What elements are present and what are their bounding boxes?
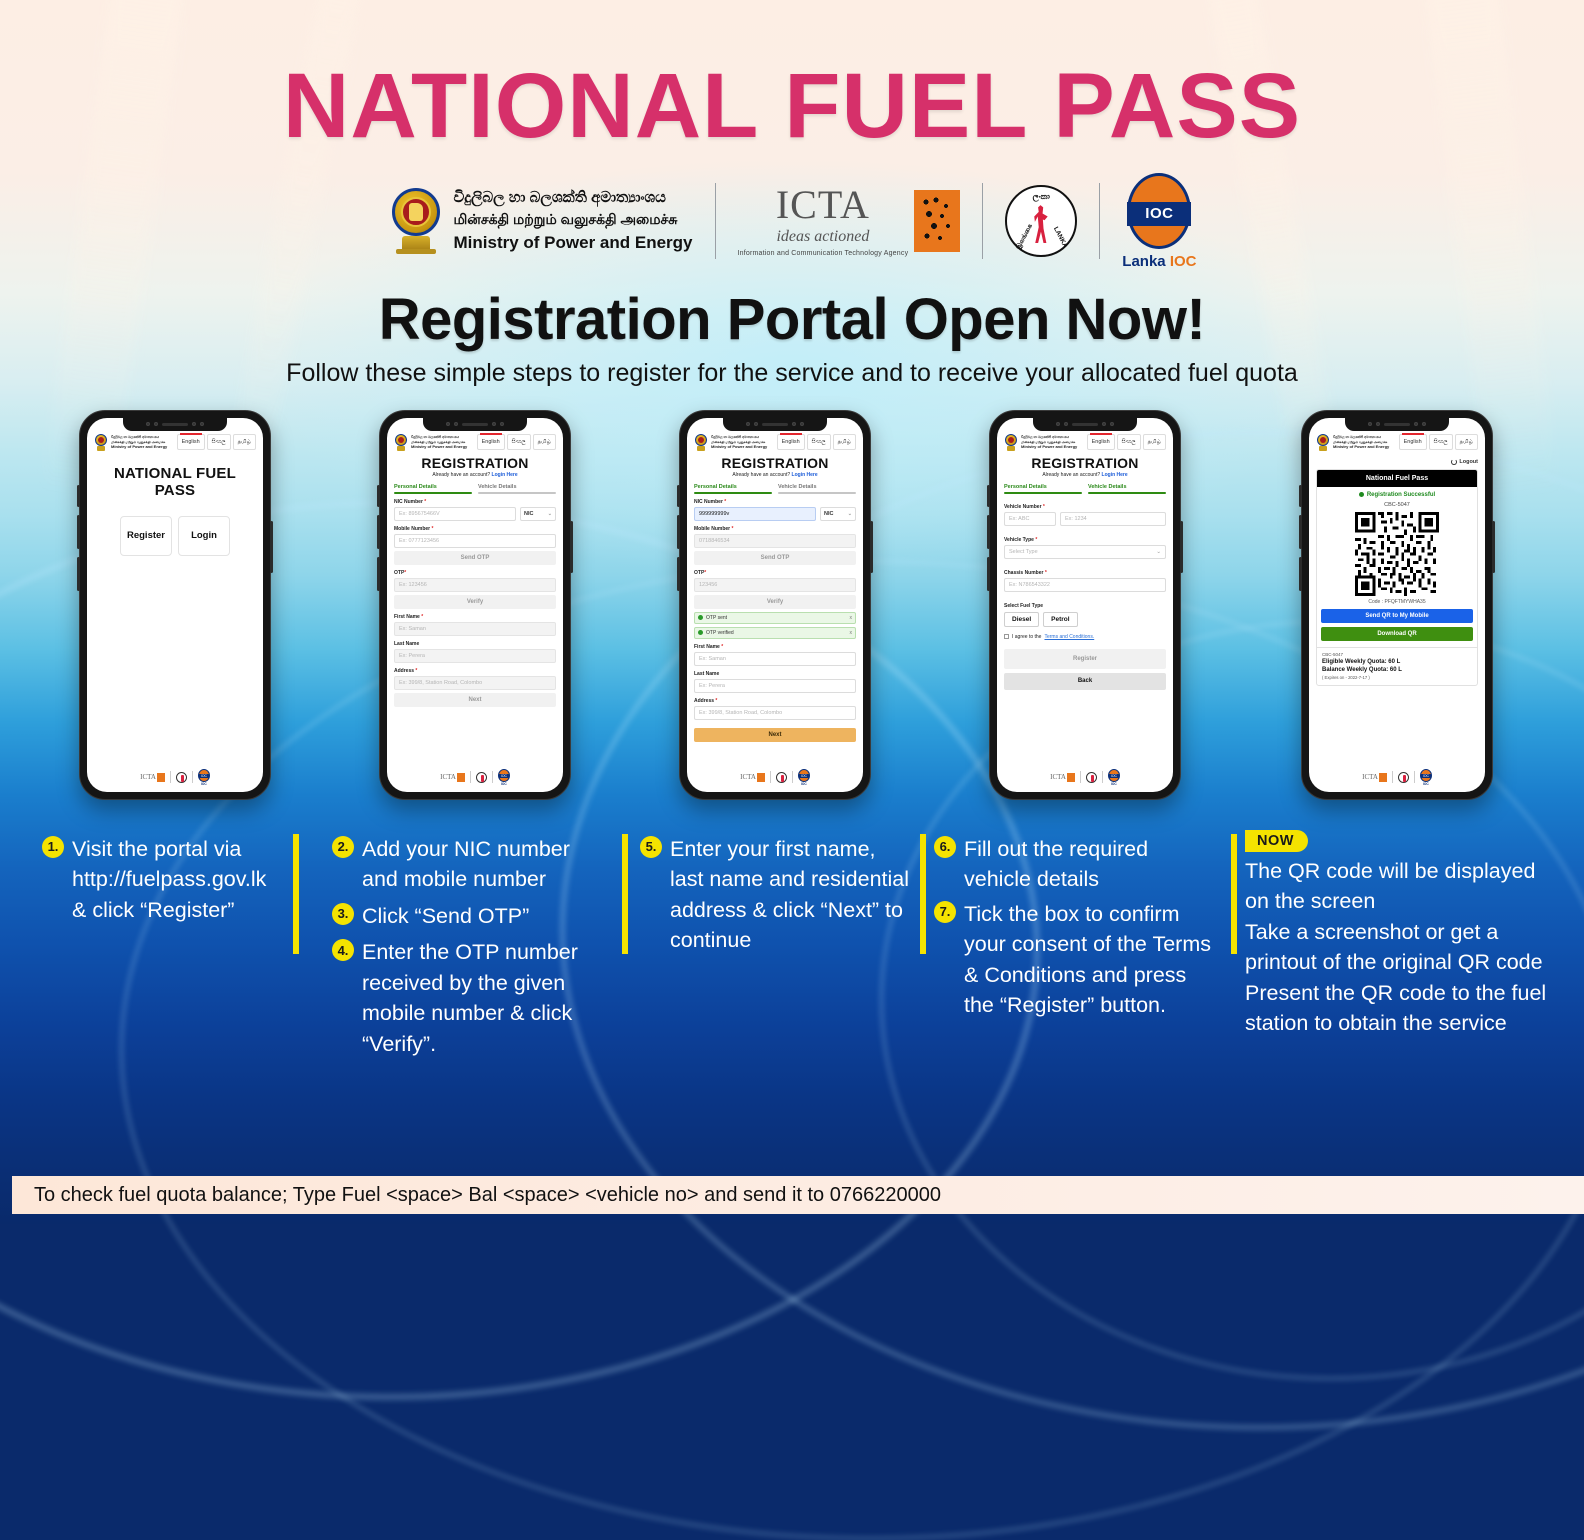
lanka-top-text: ලංකා: [1007, 192, 1075, 202]
ioc-caption: Lanka: [1122, 253, 1170, 270]
icta-footer-icon: ICTA: [440, 773, 465, 782]
terms-link[interactable]: Terms and Conditions.: [1044, 634, 1094, 640]
logout-icon: [1451, 459, 1457, 465]
lanka-emblem-logo: ලංකා இலங்கை LANKA: [983, 185, 1099, 257]
logo-strip: විදුලිබල හා බලශක්ති අමාත්‍යාංශය மின்சக்த…: [0, 173, 1584, 270]
login-button[interactable]: Login: [178, 516, 230, 556]
back-button[interactable]: Back: [1004, 673, 1166, 690]
ministry-name-english: Ministry of Power and Energy: [111, 444, 167, 449]
app-footer: ICTA IOC: [394, 765, 556, 792]
page-subtitle: Registration Portal Open Now!: [0, 286, 1584, 353]
step-text: Visit the portal via http://fuelpass.gov…: [72, 834, 282, 926]
icta-footer-icon: ICTA: [1362, 773, 1387, 782]
quota-panel: CBC-5047 Eligible Weekly Quota: 60 L Bal…: [1317, 647, 1477, 685]
step-number: 4.: [332, 939, 354, 961]
step-number: 2.: [332, 836, 354, 858]
now-line-3: Present the QR code to the fuel station …: [1231, 978, 1561, 1039]
quota-plate: CBC-5047: [1322, 652, 1472, 657]
ministry-name-english: Ministry of Power and Energy: [454, 230, 693, 256]
app-ministry-logo: විදුලිබල හා බලශක්ති අමාත්‍යාංශය மின்சக்த…: [394, 434, 467, 451]
form-tabs[interactable]: Personal Details Vehicle Details: [694, 484, 856, 494]
sri-lanka-crest-icon: [694, 434, 708, 451]
vehicle-plate: CBC-5047: [1317, 502, 1477, 508]
chevron-down-icon: ⌄: [1156, 549, 1161, 555]
runner-footer-icon: [1398, 772, 1409, 783]
app-ministry-logo: විදුලිබල හා බලශක්ති අමාත්‍යාංශය மின்சக்த…: [694, 434, 767, 451]
otp-label: OTP*: [394, 570, 556, 576]
mobile-input[interactable]: 0718846534: [694, 534, 856, 548]
icta-footer-icon: ICTA: [1050, 773, 1075, 782]
sri-lanka-crest-icon: [1316, 434, 1330, 451]
lang-tamil[interactable]: தமிழ்: [233, 434, 256, 450]
phone-notch: [723, 418, 827, 431]
runner-footer-icon: [176, 772, 187, 783]
nic-type-select[interactable]: NIC⌄: [820, 507, 856, 521]
mobile-label: Mobile Number *: [694, 526, 856, 532]
step-column-3: 5. Enter your first name, last name and …: [640, 834, 912, 956]
step-column-now: NOW The QR code will be displayed on the…: [1231, 830, 1561, 1039]
step-number: 7.: [934, 901, 956, 923]
first-name-input[interactable]: Ex: Saman: [694, 652, 856, 666]
terms-text: I agree to the: [1012, 634, 1041, 640]
alert-otp-sent: OTP sent x: [694, 612, 856, 624]
ioc-mark: IOC: [1127, 202, 1191, 226]
form-tabs[interactable]: Personal Details Vehicle Details: [394, 484, 556, 494]
vehicle-digits-input[interactable]: Ex: 1234: [1060, 512, 1166, 526]
step-number: 1.: [42, 836, 64, 858]
form-tabs[interactable]: Personal Details Vehicle Details: [1004, 484, 1166, 494]
step-text: Tick the box to confirm your consent of …: [964, 899, 1218, 1021]
steps-section: 1. Visit the portal via http://fuelpass.…: [0, 826, 1584, 1056]
first-name-label: First Name *: [394, 614, 556, 620]
close-icon[interactable]: x: [850, 615, 853, 621]
sri-lanka-crest-icon: [94, 434, 108, 451]
ioc-footer-icon: [1108, 769, 1120, 782]
lanka-left-text: இலங்கை: [1015, 223, 1035, 251]
tab-personal-details[interactable]: Personal Details: [394, 484, 472, 494]
icta-logo: ICTA ideas actioned Information and Comm…: [716, 185, 983, 257]
lang-tamil[interactable]: தமிழ்: [1455, 434, 1478, 450]
first-name-label: First Name *: [694, 644, 856, 650]
lang-tamil[interactable]: தமிழ்: [533, 434, 556, 450]
verify-button[interactable]: Verify: [394, 595, 556, 609]
vehicle-type-select[interactable]: Select Type ⌄: [1004, 545, 1166, 559]
fuel-type-options[interactable]: Diesel Petrol: [1004, 612, 1166, 627]
icta-tagline: ideas actioned: [738, 228, 909, 246]
otp-input[interactable]: 123456: [694, 578, 856, 592]
ioc-footer-icon: [1420, 769, 1432, 782]
ministry-name-tamil: மின்சக்தி மற்றும் வலுசக்தி அமைச்சு: [454, 209, 693, 230]
fuel-option-petrol[interactable]: Petrol: [1043, 612, 1077, 627]
eligible-quota: Eligible Weekly Quota: 60 L: [1322, 659, 1472, 665]
address-input[interactable]: Ex: 399/8, Station Road, Colombo: [694, 706, 856, 720]
step-divider: [622, 834, 628, 954]
check-circle-icon: [1359, 492, 1364, 497]
runner-footer-icon: [1086, 772, 1097, 783]
lang-english[interactable]: English: [477, 434, 505, 450]
lang-tamil[interactable]: தமிழ்: [833, 434, 856, 450]
send-otp-button[interactable]: Send OTP: [694, 551, 856, 565]
terms-checkbox[interactable]: [1004, 634, 1009, 639]
mobile-label: Mobile Number *: [394, 526, 556, 532]
send-otp-button[interactable]: Send OTP: [394, 551, 556, 565]
verify-button[interactable]: Verify: [694, 595, 856, 609]
sri-lanka-crest-icon: [388, 184, 444, 258]
step-number: 3.: [332, 903, 354, 925]
lang-english[interactable]: English: [177, 434, 205, 450]
lang-english[interactable]: English: [777, 434, 805, 450]
check-circle-icon: [698, 630, 703, 635]
nic-type-select[interactable]: NIC⌄: [520, 507, 556, 521]
otp-input[interactable]: Ex: 123456: [394, 578, 556, 592]
ministry-name-sinhala: විදුලිබල හා බලශක්ති අමාත්‍යාංශය: [111, 435, 167, 439]
now-line-1: The QR code will be displayed on the scr…: [1231, 856, 1561, 917]
phone-mockups: විදුලිබල හා බලශක්ති අමාත්‍යාංශය மின்சக்த…: [0, 410, 1584, 820]
step-column-4: 6. Fill out the required vehicle details…: [934, 834, 1218, 1021]
phone-mockup-registration-personal: විදුලිබල හා බලශක්ති අමාත්‍යාංශය மின்சக்த…: [379, 410, 571, 800]
step-column-1: 1. Visit the portal via http://fuelpass.…: [42, 834, 282, 926]
lang-sinhala[interactable]: සිංහල: [1117, 434, 1141, 450]
login-here-link[interactable]: Login Here: [792, 472, 818, 478]
qr-code: [1355, 512, 1439, 596]
nic-input[interactable]: 999999999v: [694, 507, 816, 521]
logout-button[interactable]: Logout: [1316, 459, 1478, 465]
last-name-label: Last Name: [694, 671, 856, 677]
lang-sinhala[interactable]: සිංහල: [507, 434, 531, 450]
language-switcher[interactable]: English සිංහල தமிழ்: [1399, 434, 1478, 450]
hero-section: NATIONAL FUEL PASS විදුලිබල හා බලශක්ති අ…: [0, 0, 1584, 388]
step-text: Enter the OTP number received by the giv…: [362, 937, 607, 1059]
step-divider: [1231, 834, 1237, 954]
quota-expiry: ( Expires on - 2022-7-17 ): [1322, 675, 1472, 680]
close-icon[interactable]: x: [850, 630, 853, 636]
nic-input[interactable]: Ex: 895675466V: [394, 507, 516, 521]
nic-label: NIC Number *: [694, 499, 856, 505]
ministry-logo: විදුලිබල හා බලශක්ති අමාත්‍යාංශය மின்சக்த…: [366, 184, 715, 258]
next-button[interactable]: Next: [694, 728, 856, 742]
tab-vehicle-details[interactable]: Vehicle Details: [1088, 484, 1166, 494]
ioc-footer-icon: [498, 769, 510, 782]
phone-mockup-fuel-pass-qr: විදුලිබල හා බලශක්ති අමාත්‍යාංශය மின்சக்த…: [1301, 410, 1493, 800]
next-button[interactable]: Next: [394, 693, 556, 707]
address-input[interactable]: Ex: 399/8, Station Road, Colombo: [394, 676, 556, 690]
chassis-label: Chassis Number *: [1004, 570, 1166, 576]
page-note: Follow these simple steps to register fo…: [0, 359, 1584, 388]
tab-personal-details[interactable]: Personal Details: [1004, 484, 1082, 494]
step-text: Enter your first name, last name and res…: [670, 834, 912, 956]
icta-subtitle: Information and Communication Technology…: [738, 250, 909, 257]
app-footer: ICTA IOC: [1004, 765, 1166, 792]
page-heading: REGISTRATION: [694, 455, 856, 471]
fuel-option-diesel[interactable]: Diesel: [1004, 612, 1039, 627]
app-ministry-logo: විදුලිබල හා බලශක්ති අමාත්‍යාංශය மின்சக்த…: [94, 434, 167, 451]
fuel-pass-card: National Fuel Pass Registration Successf…: [1316, 469, 1478, 686]
register-button[interactable]: Register: [1004, 649, 1166, 669]
step-item: 1. Visit the portal via http://fuelpass.…: [42, 834, 282, 926]
lang-sinhala[interactable]: සිංහල: [807, 434, 831, 450]
balance-quota: Balance Weekly Quota: 60 L: [1322, 667, 1472, 673]
lang-sinhala[interactable]: සිංහල: [207, 434, 231, 450]
now-badge: NOW: [1245, 830, 1308, 852]
last-name-input[interactable]: Ex: Perera: [394, 649, 556, 663]
step-text: Add your NIC number and mobile number: [362, 834, 607, 895]
phone-mockup-registration-otp: විදුලිබල හා බලශක්ති අමාත්‍යාංශය மின்சக்த…: [679, 410, 871, 800]
tab-personal-details[interactable]: Personal Details: [694, 484, 772, 494]
language-switcher[interactable]: English සිංහල தமிழ்: [477, 434, 556, 450]
ioc-caption-accent: IOC: [1170, 253, 1197, 270]
page-heading: REGISTRATION: [394, 455, 556, 471]
app-footer: ICTA IOC: [1316, 765, 1478, 792]
address-label: Address *: [694, 698, 856, 704]
page-heading: REGISTRATION: [1004, 455, 1166, 471]
step-item: 5. Enter your first name, last name and …: [640, 834, 912, 956]
phone-notch: [1033, 418, 1137, 431]
tab-vehicle-details[interactable]: Vehicle Details: [778, 484, 856, 494]
register-button[interactable]: Register: [120, 516, 172, 556]
step-item: 3. Click “Send OTP”: [332, 901, 607, 932]
otp-label: OTP*: [694, 570, 856, 576]
terms-row[interactable]: I agree to the Terms and Conditions.: [1004, 634, 1166, 640]
language-switcher[interactable]: English සිංහල தமிழ்: [177, 434, 256, 450]
step-divider: [293, 834, 299, 954]
step-number: 6.: [934, 836, 956, 858]
lanka-ioc-logo: IOC Lanka IOC: [1100, 173, 1218, 270]
app-ministry-logo: විදුලිබල හා බලශක්ති අමාත්‍යාංශය மின்சக்த…: [1316, 434, 1389, 451]
icta-wordmark: ICTA: [738, 185, 909, 225]
alert-otp-verified: OTP verified x: [694, 627, 856, 639]
lang-english[interactable]: English: [1399, 434, 1427, 450]
step-item: 4. Enter the OTP number received by the …: [332, 937, 607, 1059]
download-qr-button[interactable]: Download QR: [1321, 627, 1473, 641]
app-ministry-logo: විදුලිබල හා බලශක්ති අමාත්‍යාංශය மின்சக்த…: [1004, 434, 1077, 451]
icta-dots-icon: [914, 190, 960, 252]
phone-mockup-home: විදුලිබල හා බලශක්ති අමාත්‍යාංශය மின்சக்த…: [79, 410, 271, 800]
step-text: Click “Send OTP”: [362, 901, 529, 932]
language-switcher[interactable]: English සිංහල தமிழ்: [777, 434, 856, 450]
step-item: 6. Fill out the required vehicle details: [934, 834, 1218, 895]
status-badge: Registration Successful: [1317, 492, 1477, 498]
login-here-link[interactable]: Login Here: [1102, 472, 1128, 478]
runner-footer-icon: [476, 772, 487, 783]
send-qr-button[interactable]: Send QR to My Mobile: [1321, 609, 1473, 623]
chassis-input[interactable]: Ex: N786543322: [1004, 578, 1166, 592]
last-name-label: Last Name: [394, 641, 556, 647]
vehicle-prefix-input[interactable]: Ex: ABC: [1004, 512, 1056, 526]
phone-notch: [123, 418, 227, 431]
language-switcher[interactable]: English සිංහල தமிழ்: [1087, 434, 1166, 450]
step-text: Fill out the required vehicle details: [964, 834, 1218, 895]
ministry-name-sinhala: විදුලිබල හා බලශක්ති අමාත්‍යාංශය: [454, 187, 693, 210]
vehicle-number-label: Vehicle Number *: [1004, 504, 1166, 510]
step-item: 7. Tick the box to confirm your consent …: [934, 899, 1218, 1021]
sri-lanka-crest-icon: [1004, 434, 1018, 451]
mobile-input[interactable]: Ex: 0777123456: [394, 534, 556, 548]
nic-label: NIC Number *: [394, 499, 556, 505]
footer-banner: To check fuel quota balance; Type Fuel <…: [12, 1176, 1584, 1214]
lang-tamil[interactable]: தமிழ்: [1143, 434, 1166, 450]
page-title: NATIONAL FUEL PASS: [0, 0, 1584, 155]
runner-footer-icon: [776, 772, 787, 783]
app-footer: ICTA IOC: [94, 765, 256, 792]
phone-mockup-vehicle-details: විදුලිබල හා බලශක්ති අමාත්‍යාංශය மின்சக்த…: [989, 410, 1181, 800]
runner-icon: ලංකා இலங்கை LANKA: [1005, 185, 1077, 257]
step-column-2: 2. Add your NIC number and mobile number…: [332, 834, 607, 1060]
step-number: 5.: [640, 836, 662, 858]
check-circle-icon: [698, 615, 703, 620]
home-title: NATIONAL FUEL PASS: [94, 465, 256, 500]
step-divider: [920, 834, 926, 954]
first-name-input[interactable]: Ex: Saman: [394, 622, 556, 636]
lang-english[interactable]: English: [1087, 434, 1115, 450]
qr-code-label: Code : PFQFTMYWHA35: [1317, 599, 1477, 605]
vehicle-type-label: Vehicle Type *: [1004, 537, 1166, 543]
have-account-text: Already have an account?: [432, 472, 490, 478]
ioc-oval-icon: IOC: [1127, 173, 1191, 249]
sri-lanka-crest-icon: [394, 434, 408, 451]
icta-footer-icon: ICTA: [140, 773, 165, 782]
app-footer: ICTA IOC: [694, 765, 856, 792]
step-item: 2. Add your NIC number and mobile number: [332, 834, 607, 895]
phone-notch: [423, 418, 527, 431]
fuel-pass-card-title: National Fuel Pass: [1317, 470, 1477, 487]
fuel-type-label: Select Fuel Type: [1004, 603, 1166, 609]
ioc-footer-icon: [198, 769, 210, 782]
login-here-link[interactable]: Login Here: [492, 472, 518, 478]
phone-notch: [1345, 418, 1449, 431]
ioc-footer-icon: [798, 769, 810, 782]
now-line-2: Take a screenshot or get a printout of t…: [1231, 917, 1561, 978]
footer-text: To check fuel quota balance; Type Fuel <…: [34, 1184, 941, 1207]
lang-sinhala[interactable]: සිංහල: [1429, 434, 1453, 450]
tab-vehicle-details[interactable]: Vehicle Details: [478, 484, 556, 494]
lanka-right-text: LANKA: [1051, 226, 1068, 249]
address-label: Address *: [394, 668, 556, 674]
last-name-input[interactable]: Ex: Perera: [694, 679, 856, 693]
icta-footer-icon: ICTA: [740, 773, 765, 782]
